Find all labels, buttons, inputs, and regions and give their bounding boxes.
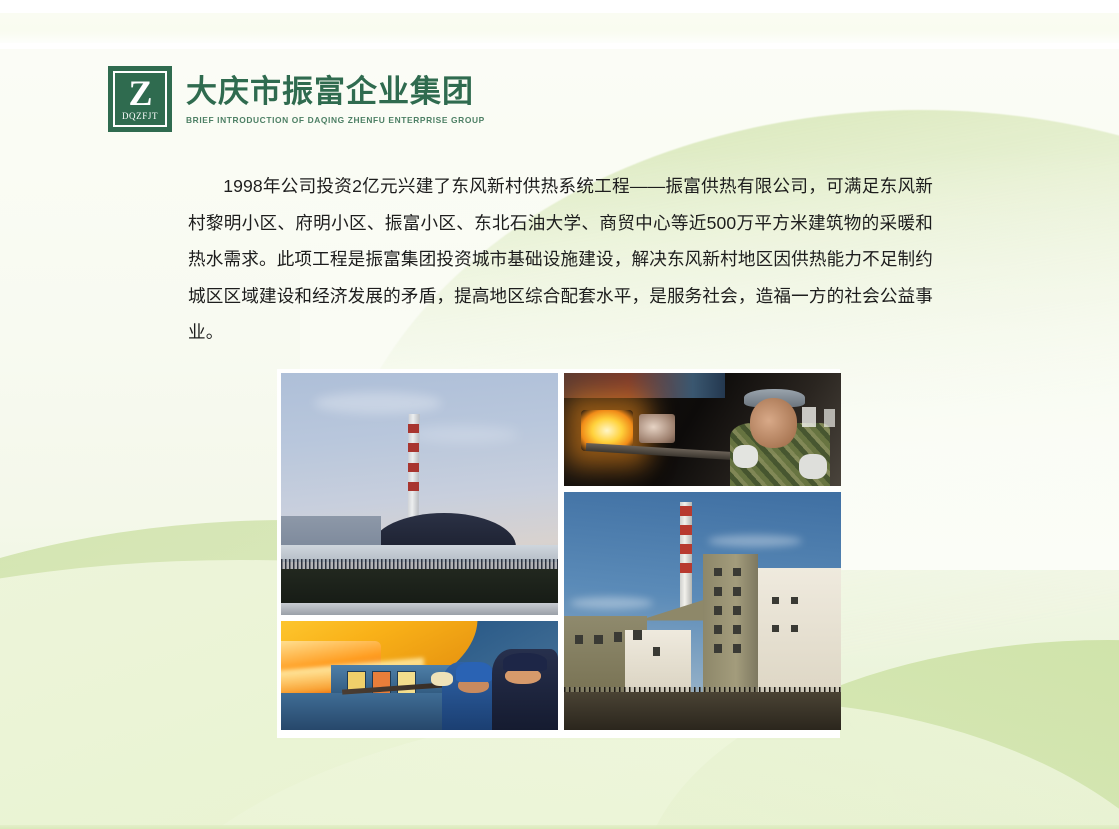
body-paragraph: 1998年公司投资2亿元兴建了东风新村供热系统工程——振富供热有限公司，可满足东… <box>188 168 933 351</box>
photo-d-window <box>633 630 641 640</box>
photo-d-cloud <box>570 597 653 609</box>
photo-heating-plant-building <box>564 492 841 730</box>
photo-d-smokestack <box>680 502 692 616</box>
brand-header: Z DQZFJT 大庆市振富企业集团 BRIEF INTRODUCTION OF… <box>108 66 485 132</box>
bottom-edge-cap <box>0 825 1119 829</box>
photo-d-right-hall <box>752 568 841 697</box>
brand-text-block: 大庆市振富企业集团 BRIEF INTRODUCTION OF DAQING Z… <box>186 66 485 126</box>
photo-d-window <box>714 568 722 576</box>
photo-d-window <box>733 625 741 633</box>
photo-a-stack-band <box>408 463 419 472</box>
photo-c-worker-glove <box>431 672 453 686</box>
photo-d-ground <box>564 692 841 730</box>
photo-d-stack-band <box>680 525 692 535</box>
photo-c-worker-two-cap <box>503 653 547 672</box>
photo-d-window <box>733 568 741 576</box>
photo-d-window <box>653 647 660 657</box>
photo-d-window <box>733 606 741 614</box>
photo-d-window <box>791 625 798 632</box>
photo-a-stack-band <box>408 424 419 433</box>
slide-page: Z DQZFJT 大庆市振富企业集团 BRIEF INTRODUCTION OF… <box>0 0 1119 829</box>
photo-d-window <box>714 606 722 614</box>
photo-d-window <box>614 632 622 642</box>
photo-a-building-block <box>281 516 381 547</box>
photo-d-window <box>714 587 722 595</box>
company-name-cn: 大庆市振富企业集团 <box>186 74 485 110</box>
photo-d-window <box>772 597 779 604</box>
photo-c-worker-one-cap <box>456 662 492 682</box>
photo-d-stair-tower <box>703 554 758 692</box>
photo-b-highlight <box>824 409 835 427</box>
photo-b-upper-machinery <box>564 373 725 398</box>
photo-control-line-workers <box>281 621 558 730</box>
photo-a-road <box>281 603 558 615</box>
photo-a-stack-band <box>408 482 419 491</box>
photo-a-stack-band <box>408 443 419 452</box>
photo-b-worker-glove <box>799 454 827 479</box>
photo-collage <box>277 369 840 738</box>
photo-d-stack-band <box>680 544 692 554</box>
photo-furnace-worker <box>564 373 841 486</box>
top-tinted-band <box>0 13 1119 43</box>
photo-a-cloud <box>314 392 441 414</box>
photo-d-window <box>714 625 722 633</box>
company-tagline-en: BRIEF INTRODUCTION OF DAQING ZHENFU ENTE… <box>186 114 485 126</box>
photo-b-hot-billet <box>639 414 675 443</box>
photo-b-worker-glove <box>733 445 758 468</box>
photo-d-cloud <box>708 535 802 547</box>
top-white-strip <box>0 0 1119 13</box>
logo-letter-z: Z <box>128 76 151 110</box>
photo-d-stack-band <box>680 506 692 516</box>
photo-d-window <box>575 635 583 645</box>
photo-d-window <box>791 597 798 604</box>
logo-inner-frame: Z DQZFJT <box>113 71 167 127</box>
logo-abbreviation: DQZFJT <box>122 111 158 122</box>
photo-d-window <box>733 644 741 652</box>
photo-b-highlight <box>802 407 816 427</box>
photo-d-window <box>594 635 602 645</box>
photo-a-ground <box>281 569 558 603</box>
photo-d-window <box>714 644 722 652</box>
top-divider-line <box>0 43 1119 49</box>
photo-d-stack-band <box>680 563 692 573</box>
photo-b-worker-face <box>750 398 797 448</box>
photo-d-window <box>772 625 779 632</box>
company-logo-icon: Z DQZFJT <box>108 66 172 132</box>
photo-power-plant-dusk <box>281 373 558 615</box>
photo-d-window <box>733 587 741 595</box>
